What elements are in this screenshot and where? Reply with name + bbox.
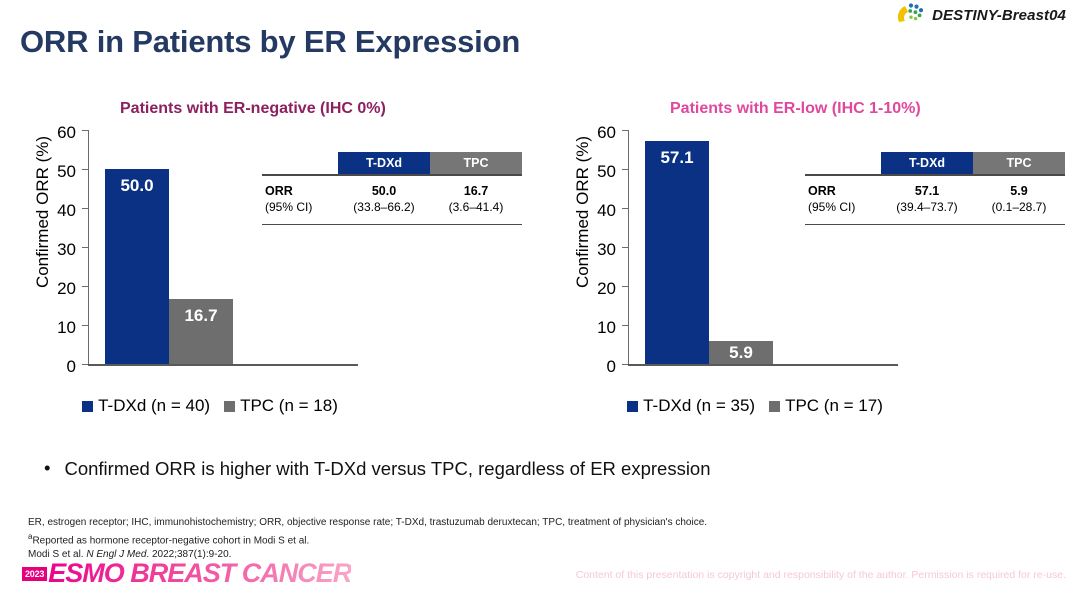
- y-tick-50: 50: [582, 163, 616, 180]
- table-row: ORR (95% CI) 50.0 (33.8–66.2) 16.7 (3.6–…: [262, 176, 522, 224]
- table-row: ORR (95% CI) 57.1 (39.4–73.7) 5.9 (0.1–2…: [805, 176, 1065, 224]
- row-label: ORR (95% CI): [262, 183, 338, 216]
- bullet-text: Confirmed ORR is higher with T-DXd versu…: [64, 458, 710, 480]
- cell-tdxd-ci: (39.4–73.7): [896, 200, 957, 214]
- y-tick-60: 60: [42, 124, 76, 141]
- chart-er-low: Confirmed ORR (%) 60 50 40 30 20 10 0 57…: [550, 124, 1070, 394]
- y-tick-60: 60: [582, 124, 616, 141]
- column-header-tpc: TPC: [430, 152, 522, 174]
- legend-item-tpc: TPC (n = 17): [769, 396, 883, 416]
- table-rule-bottom: [805, 224, 1065, 226]
- summary-table-er-negative: T-DXd TPC ORR (95% CI) 50.0 (33.8–66.2) …: [262, 152, 522, 225]
- bar-label-tpc: 5.9: [709, 343, 773, 363]
- chart-er-negative: Confirmed ORR (%) 60 50 40 30 20 10 0 50…: [10, 124, 530, 394]
- bar-tpc: 16.7: [169, 299, 233, 364]
- bar-tdxd: 57.1: [645, 141, 709, 364]
- y-tick-20: 20: [582, 280, 616, 297]
- key-takeaway-bullet: • Confirmed ORR is higher with T-DXd ver…: [44, 458, 711, 480]
- summary-table-er-low: T-DXd TPC ORR (95% CI) 57.1 (39.4–73.7) …: [805, 152, 1065, 225]
- y-tick-40: 40: [42, 202, 76, 219]
- legend-label-tpc: TPC (n = 18): [240, 396, 338, 416]
- legend-item-tdxd: T-DXd (n = 40): [82, 396, 210, 416]
- legend-er-low: T-DXd (n = 35) TPC (n = 17): [585, 396, 925, 416]
- esmo-logo: 2023 ESMO BREAST CANCER: [22, 560, 351, 587]
- legend-item-tpc: TPC (n = 18): [224, 396, 338, 416]
- legend-er-negative: T-DXd (n = 40) TPC (n = 18): [40, 396, 380, 416]
- y-tick-10: 10: [582, 319, 616, 336]
- page-title: ORR in Patients by ER Expression: [20, 24, 520, 60]
- cell-tdxd-value: 57.1: [915, 184, 939, 198]
- panel-title-er-low: Patients with ER-low (IHC 1-10%): [550, 100, 1070, 118]
- y-tick-50: 50: [42, 163, 76, 180]
- bar-tpc: 5.9: [709, 341, 773, 364]
- panel-title-er-negative: Patients with ER-negative (IHC 0%): [10, 100, 530, 118]
- y-tick-40: 40: [582, 202, 616, 219]
- bullet-marker: •: [44, 458, 50, 478]
- legend-swatch-tdxd: [82, 401, 93, 412]
- cell-tdxd: 50.0 (33.8–66.2): [338, 183, 430, 216]
- column-header-tpc: TPC: [973, 152, 1065, 174]
- row-label: ORR (95% CI): [805, 183, 881, 216]
- bar-label-tpc: 16.7: [169, 306, 233, 326]
- study-name: DESTINY-Breast04: [932, 7, 1066, 24]
- study-badge: DESTINY-Breast04: [896, 2, 1066, 29]
- row-label-main: ORR: [808, 184, 836, 198]
- summary-table-header-row: T-DXd TPC: [805, 152, 1065, 174]
- bar-tdxd: 50.0: [105, 169, 169, 364]
- esmo-year-badge: 2023: [22, 567, 47, 581]
- legend-swatch-tpc: [224, 401, 235, 412]
- y-tick-0: 0: [42, 358, 76, 375]
- bar-label-tdxd: 57.1: [645, 148, 709, 168]
- row-label-main: ORR: [265, 184, 293, 198]
- cell-tpc-ci: (0.1–28.7): [992, 200, 1047, 214]
- y-tick-0: 0: [582, 358, 616, 375]
- cell-tpc-value: 16.7: [464, 184, 488, 198]
- table-rule-bottom: [262, 224, 522, 226]
- x-axis-line: [88, 364, 358, 366]
- bar-label-tdxd: 50.0: [105, 176, 169, 196]
- legend-swatch-tdxd: [627, 401, 638, 412]
- panel-er-low: Patients with ER-low (IHC 1-10%) Confirm…: [550, 100, 1070, 440]
- destiny-breast-logo-icon: [896, 2, 926, 29]
- copyright-notice: Content of this presentation is copyrigh…: [576, 569, 1066, 581]
- legend-label-tdxd: T-DXd (n = 40): [98, 396, 210, 416]
- footnote-abbreviations: ER, estrogen receptor; IHC, immunohistoc…: [28, 516, 707, 531]
- footnotes: ER, estrogen receptor; IHC, immunohistoc…: [28, 516, 707, 563]
- row-label-sub: (95% CI): [265, 200, 312, 214]
- footnote-note: aReported as hormone receptor-negative c…: [28, 531, 707, 549]
- cell-tpc: 5.9 (0.1–28.7): [973, 183, 1065, 216]
- y-tick-30: 30: [42, 241, 76, 258]
- y-tick-30: 30: [582, 241, 616, 258]
- footnote-note-text: Reported as hormone receptor-negative co…: [32, 535, 309, 546]
- x-axis-line: [628, 364, 898, 366]
- legend-item-tdxd: T-DXd (n = 35): [627, 396, 755, 416]
- cell-tpc: 16.7 (3.6–41.4): [430, 183, 522, 216]
- panel-er-negative: Patients with ER-negative (IHC 0%) Confi…: [10, 100, 530, 440]
- row-label-sub: (95% CI): [808, 200, 855, 214]
- y-tick-10: 10: [42, 319, 76, 336]
- cell-tpc-ci: (3.6–41.4): [449, 200, 504, 214]
- cell-tdxd: 57.1 (39.4–73.7): [881, 183, 973, 216]
- y-tick-20: 20: [42, 280, 76, 297]
- cell-tdxd-value: 50.0: [372, 184, 396, 198]
- cell-tpc-value: 5.9: [1010, 184, 1027, 198]
- cell-tdxd-ci: (33.8–66.2): [353, 200, 414, 214]
- legend-label-tpc: TPC (n = 17): [785, 396, 883, 416]
- esmo-wordmark: ESMO BREAST CANCER: [47, 560, 351, 587]
- column-header-tdxd: T-DXd: [338, 152, 430, 174]
- summary-table-header-row: T-DXd TPC: [262, 152, 522, 174]
- legend-label-tdxd: T-DXd (n = 35): [643, 396, 755, 416]
- legend-swatch-tpc: [769, 401, 780, 412]
- column-header-tdxd: T-DXd: [881, 152, 973, 174]
